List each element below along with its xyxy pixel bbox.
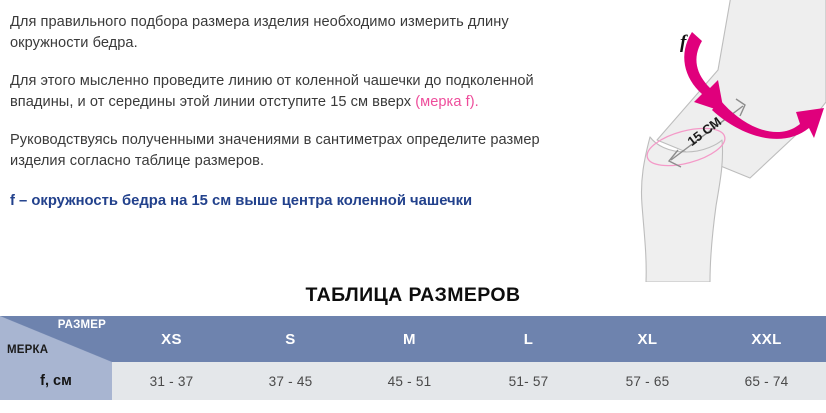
column-header-l: L (469, 316, 588, 362)
size-table: РАЗМЕР МЕРКА XS S M L XL XXL f, см 31 - … (0, 316, 826, 400)
row-label-f-cm: f, см (0, 362, 112, 400)
cell-f-xs: 31 - 37 (112, 362, 231, 400)
column-header-xs: XS (112, 316, 231, 362)
corner-measure-label: МЕРКА (7, 344, 48, 356)
column-header-s: S (231, 316, 350, 362)
column-header-xxl: XXL (707, 316, 826, 362)
instructions-panel: Для правильного подбора размера изделия … (10, 12, 555, 212)
instruction-paragraph-3: Руководствуясь полученными значениями в … (10, 130, 555, 172)
column-header-xl: XL (588, 316, 707, 362)
size-table-header-row: РАЗМЕР МЕРКА XS S M L XL XXL (0, 316, 826, 362)
cell-f-l: 51- 57 (469, 362, 588, 400)
table-corner-cell: РАЗМЕР МЕРКА (0, 316, 112, 362)
instruction-paragraph-2: Для этого мысленно проведите линию от ко… (10, 71, 555, 113)
corner-size-label: РАЗМЕР (58, 319, 106, 331)
table-row: f, см 31 - 37 37 - 45 45 - 51 51- 57 57 … (0, 362, 826, 400)
instruction-paragraph-1: Для правильного подбора размера изделия … (10, 12, 555, 54)
calf-shape (641, 137, 722, 282)
measurement-legend: f – окружность бедра на 15 см выше центр… (10, 189, 555, 212)
cell-f-s: 37 - 45 (231, 362, 350, 400)
column-header-m: M (350, 316, 469, 362)
arrow-f-label: f (680, 32, 686, 54)
size-table-title: ТАБЛИЦА РАЗМЕРОВ (0, 284, 826, 307)
leg-measurement-illustration: 15 СМ f (600, 0, 826, 282)
measure-tag-f: (мерка f). (415, 94, 478, 110)
cell-f-xxl: 65 - 74 (707, 362, 826, 400)
cell-f-m: 45 - 51 (350, 362, 469, 400)
cell-f-xl: 57 - 65 (588, 362, 707, 400)
leg-diagram-svg: 15 СМ (600, 0, 826, 282)
